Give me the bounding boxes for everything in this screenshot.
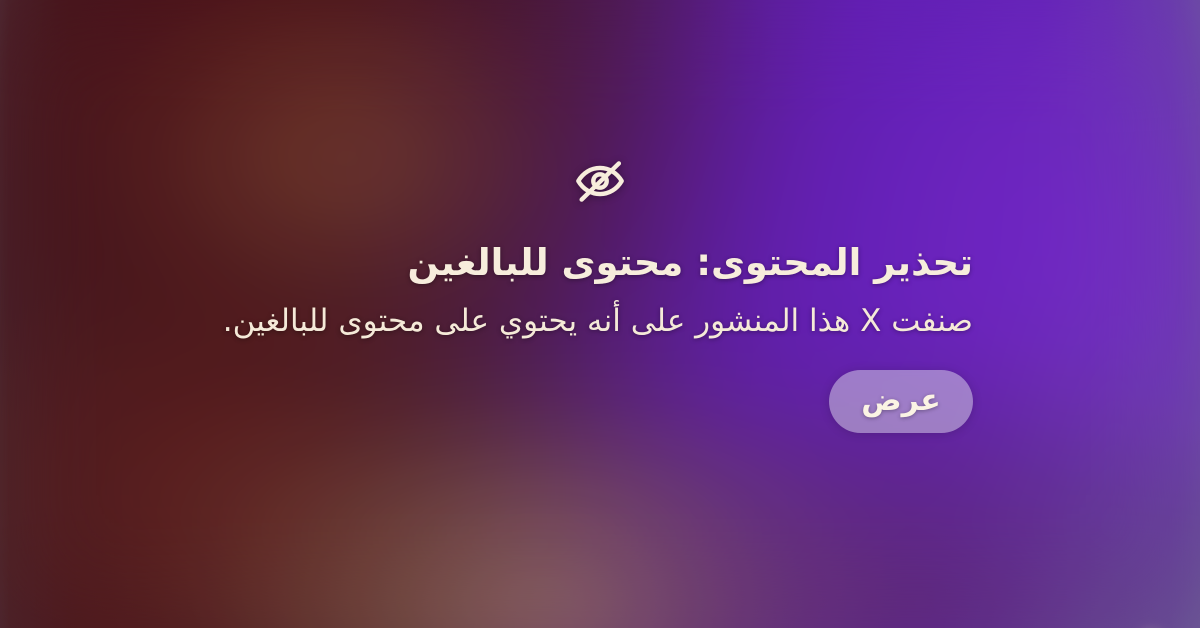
page-title: تحذير المحتوى: محتوى للبالغين [225,242,973,283]
warning-text-block: تحذير المحتوى: محتوى للبالغين صنفت X هذا… [225,242,975,433]
eye-off-icon [569,150,631,212]
content-warning-screen: تحذير المحتوى: محتوى للبالغين صنفت X هذا… [0,0,1200,628]
content-warning-overlay: تحذير المحتوى: محتوى للبالغين صنفت X هذا… [0,0,1200,628]
warning-description: صنفت X هذا المنشور على أنه يحتوي على محت… [225,301,973,341]
view-button[interactable]: عرض [829,370,973,433]
action-row: عرض [225,370,973,433]
